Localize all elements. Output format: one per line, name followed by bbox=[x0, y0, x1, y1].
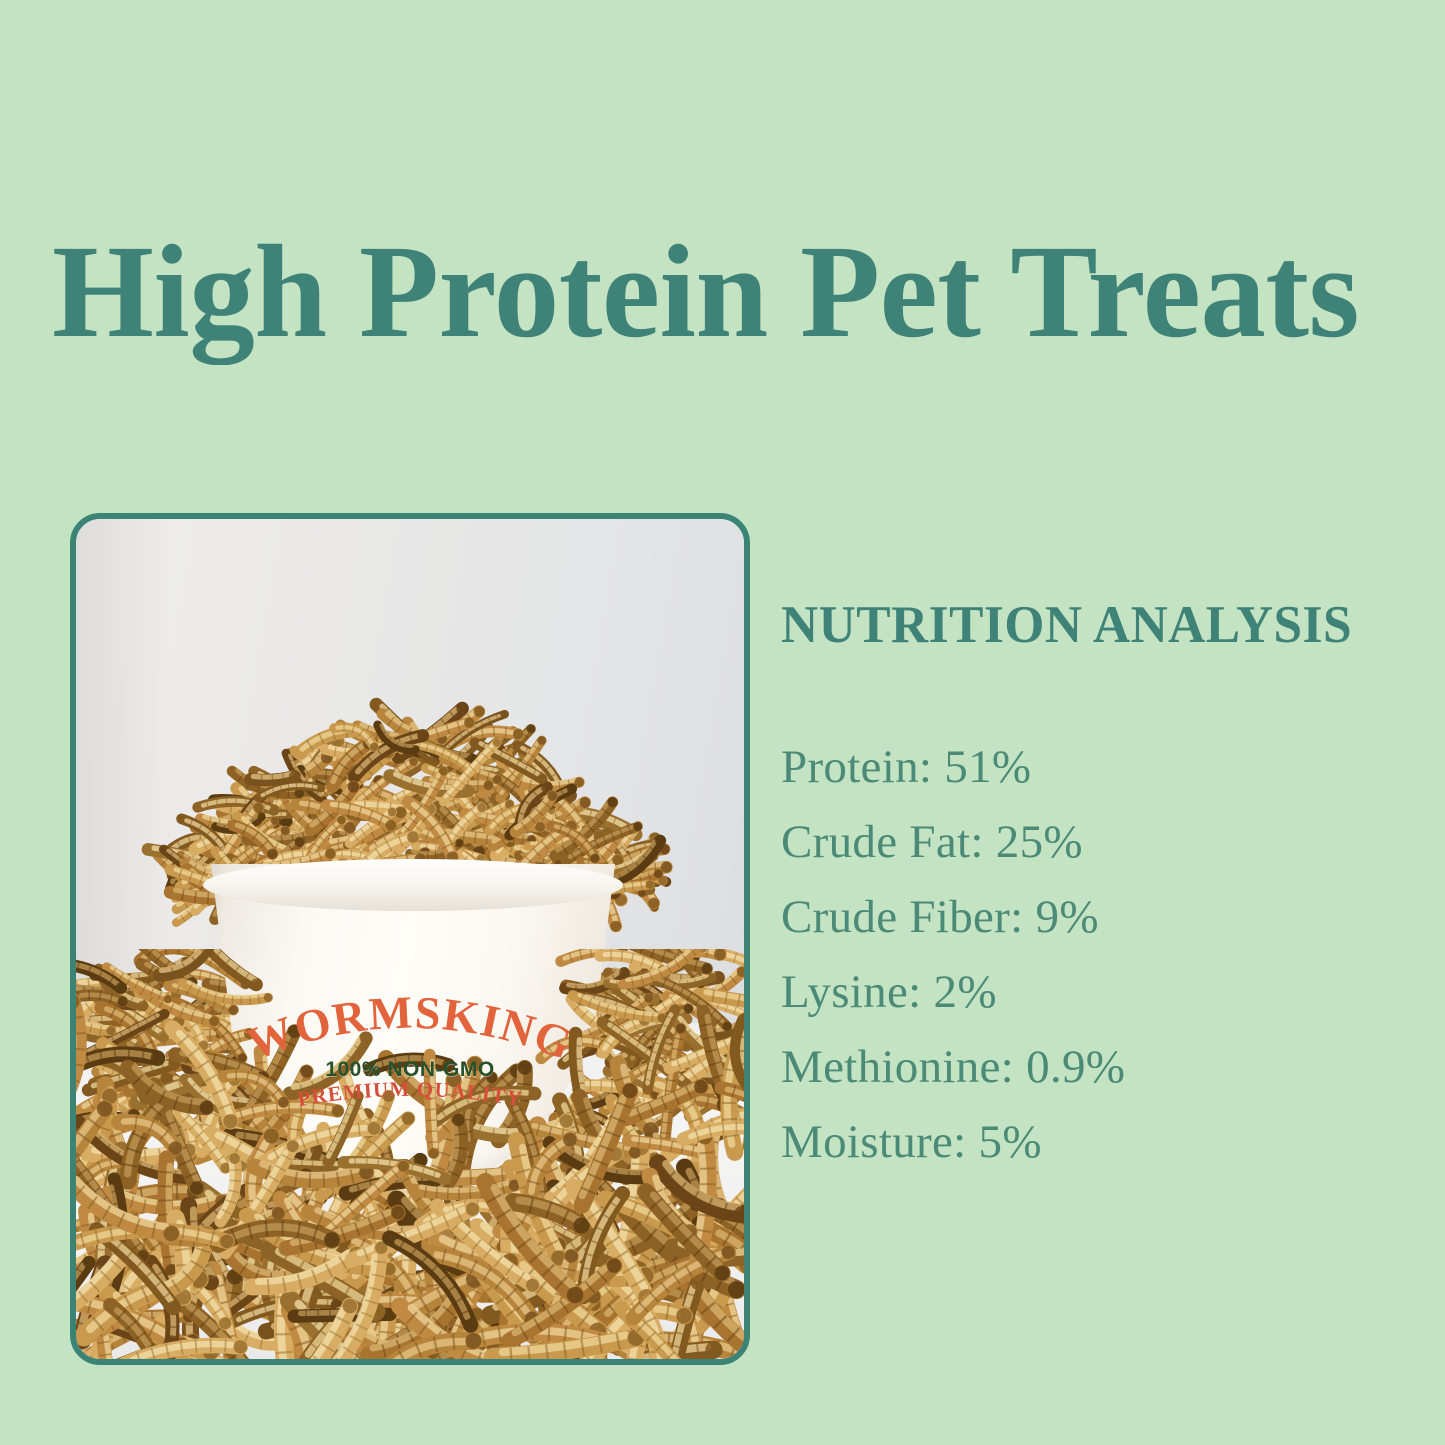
bowl-rim bbox=[203, 859, 623, 911]
nutrition-item: Methionine: 0.9% bbox=[781, 1030, 1411, 1105]
nutrition-item: Lysine: 2% bbox=[781, 955, 1411, 1030]
nutrition-item: Crude Fat: 25% bbox=[781, 805, 1411, 880]
nutrition-item: Crude Fiber: 9% bbox=[781, 880, 1411, 955]
page-title: High Protein Pet Treats bbox=[52, 229, 1382, 354]
nutrition-heading: NUTRITION ANALYSIS bbox=[781, 596, 1392, 654]
nutrition-item: Protein: 51% bbox=[781, 730, 1411, 805]
nutrition-item: Moisture: 5% bbox=[781, 1105, 1411, 1180]
product-photo-frame: WORMSKING 100% NON-GMO PREMIUM QUALITY bbox=[70, 513, 750, 1365]
nutrition-panel: NUTRITION ANALYSIS Protein: 51%Crude Fat… bbox=[781, 596, 1411, 1180]
product-infographic: High Protein Pet Treats WORMSKING bbox=[0, 0, 1445, 1445]
nutrition-list: Protein: 51%Crude Fat: 25%Crude Fiber: 9… bbox=[781, 730, 1411, 1180]
product-photo: WORMSKING 100% NON-GMO PREMIUM QUALITY bbox=[76, 519, 744, 1359]
scattered-mealworms bbox=[76, 949, 744, 1359]
